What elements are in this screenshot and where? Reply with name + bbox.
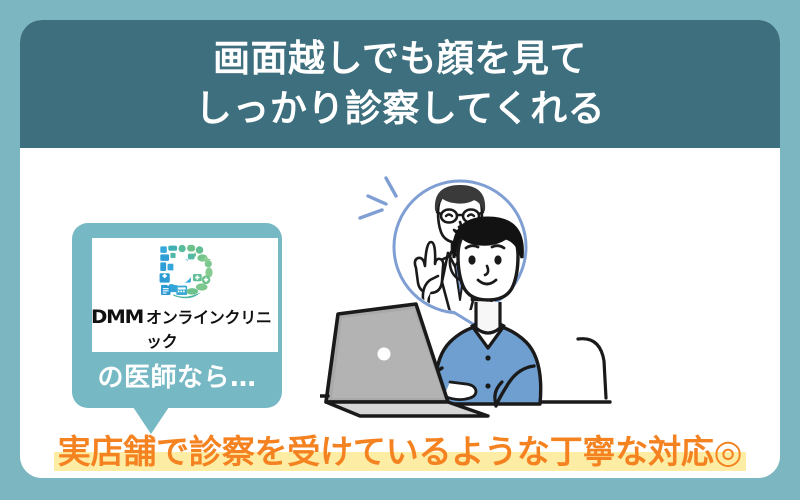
brand-logo-box: DMM オンラインクリニック: [92, 238, 278, 352]
header-title-line-2: しっかり診察してくれる: [195, 84, 605, 134]
brand-name-dmm: DMM: [91, 306, 143, 328]
illustration: [320, 160, 780, 460]
infographic-root: 画面越しでも顔を見て しっかり診察してくれる: [0, 0, 800, 500]
brand-name-jp: オンラインクリニック: [146, 304, 278, 352]
footer-text-wrapper: 実店舗で診察を受けているような丁寧な対応◎: [54, 425, 747, 473]
main-panel: 画面越しでも顔を見て しっかり診察してくれる: [20, 20, 780, 478]
header-banner: 画面越しでも顔を見て しっかり診察してくれる: [20, 20, 780, 148]
emphasis-lines: [360, 178, 396, 218]
header-title-line-1: 画面越しでも顔を見て: [213, 34, 587, 84]
dmm-online-clinic-d-logo: [139, 242, 231, 303]
chair: [578, 339, 606, 398]
footer-text: 実店舗で診察を受けているような丁寧な対応◎: [58, 425, 743, 473]
footer-strip: 実店舗で診察を受けているような丁寧な対応◎: [20, 420, 780, 478]
brand-wordmark: DMM オンラインクリニック: [92, 304, 278, 352]
brand-card-caption: の医師なら…: [72, 357, 282, 394]
